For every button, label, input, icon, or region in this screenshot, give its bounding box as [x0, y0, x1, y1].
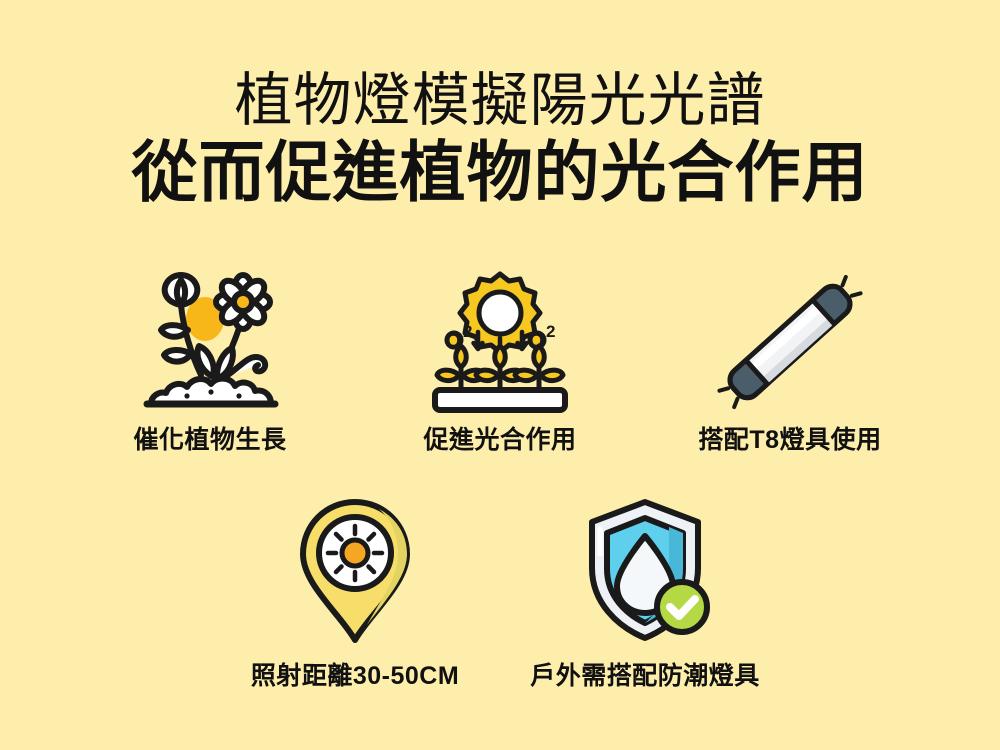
- feature-row-bottom: 照射距離30-50CM: [0, 496, 1000, 692]
- t8-tube-icon: [715, 272, 865, 412]
- feature-waterproof: 戶外需搭配防潮燈具: [500, 496, 790, 692]
- feature-plant-growth: 催化植物生長: [65, 272, 355, 456]
- svg-text:O: O: [446, 331, 461, 352]
- feature-label-irradiation-distance: 照射距離30-50CM: [251, 656, 459, 692]
- infographic-poster: 植物燈模擬陽光光譜 從而促進植物的光合作用: [0, 0, 1000, 750]
- feature-label-plant-growth: 催化植物生長: [133, 420, 286, 456]
- flowers-soil-icon: [135, 272, 285, 412]
- feature-row-top: 催化植物生長 2: [0, 272, 1000, 456]
- svg-text:2: 2: [546, 322, 555, 341]
- feature-label-photosynthesis: 促進光合作用: [423, 420, 576, 456]
- headline-line-1: 植物燈模擬陽光光譜: [0, 68, 1000, 134]
- svg-text:2: 2: [463, 322, 472, 341]
- waterproof-shield-icon: [570, 496, 720, 646]
- feature-label-t8-tube: 搭配T8燈具使用: [698, 420, 881, 456]
- feature-irradiation-distance: 照射距離30-50CM: [210, 496, 500, 692]
- feature-t8-tube: 搭配T8燈具使用: [645, 272, 935, 456]
- page-title: 植物燈模擬陽光光譜 從而促進植物的光合作用: [0, 68, 1000, 210]
- map-pin-sun-icon: [280, 496, 430, 646]
- svg-text:O: O: [529, 331, 544, 352]
- headline-line-2: 從而促進植物的光合作用: [0, 134, 1000, 210]
- feature-label-waterproof: 戶外需搭配防潮燈具: [530, 656, 760, 692]
- photosynthesis-sprouts-icon: 2 2: [425, 272, 575, 412]
- feature-photosynthesis: 2 2: [355, 272, 645, 456]
